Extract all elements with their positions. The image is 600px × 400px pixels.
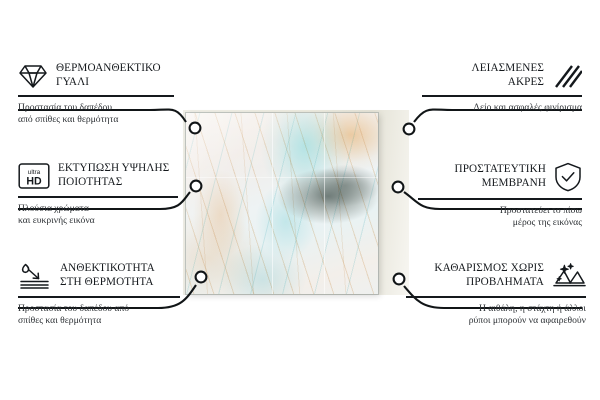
feature-description: Πλούσια χρώματα και ευκρινής εικόνα <box>18 203 178 228</box>
shield-check-icon <box>554 162 582 192</box>
feature-description: Η αιθάλη, η στάχτη ή άλλοι ρύποι μπορούν… <box>406 303 586 328</box>
feature-header: ultra HD ΕΚΤΥΠΩΣΗ ΥΨΗΛΗΣ ΠΟΙΟΤΗΤΑΣ <box>18 162 178 190</box>
feature-description: Προστασία του δαπέδου από σπίθες και θερ… <box>18 102 174 127</box>
glass-gloss <box>186 113 378 294</box>
feature-description: Προστασία του δαπέδου από σπίθες και θερ… <box>18 303 180 328</box>
feature-protective-membrane: ΠΡΟΣΤΑΤΕΥΤΙΚΗ ΜΕΜΒΡΑΝΗ Προστατεύει το πί… <box>418 162 582 230</box>
feature-title: ΕΚΤΥΠΩΣΗ ΥΨΗΛΗΣ ΠΟΙΟΤΗΤΑΣ <box>58 162 169 189</box>
infographic-canvas: ΘΕΡΜΟΑΝΘΕΚΤΙΚΟ ΓΥΑΛΙ Προστασία του δαπέδ… <box>0 0 600 400</box>
feature-heat-durability: ΑΝΘΕΚΤΙΚΟΤΗΤΑ ΣΤΗ ΘΕΡΜΟΤΗΤΑ Προστασία το… <box>18 262 180 328</box>
wipe-sparkle-icon <box>552 262 586 290</box>
feature-high-quality-print: ultra HD ΕΚΤΥΠΩΣΗ ΥΨΗΛΗΣ ΠΟΙΟΤΗΤΑΣ Πλούσ… <box>18 162 178 228</box>
polished-edge-icon <box>552 63 582 89</box>
ultra-hd-icon: ultra HD <box>18 162 50 190</box>
feature-title: ΘΕΡΜΟΑΝΘΕΚΤΙΚΟ ΓΥΑΛΙ <box>56 62 161 89</box>
divider-rule <box>406 296 586 298</box>
divider-rule <box>18 95 174 97</box>
feature-header: ΚΑΘΑΡΙΣΜΟΣ ΧΩΡΙΣ ΠΡΟΒΛΗΜΑΤΑ <box>406 262 586 290</box>
window-reflection-vertical <box>272 113 273 294</box>
feature-header: ΠΡΟΣΤΑΤΕΥΤΙΚΗ ΜΕΜΒΡΑΝΗ <box>418 162 582 192</box>
product-scene <box>183 110 409 295</box>
feature-header: ΘΕΡΜΟΑΝΘΕΚΤΙΚΟ ΓΥΑΛΙ <box>18 62 174 89</box>
glass-panel <box>186 113 378 294</box>
feature-polished-edges: ΛΕΙΑΣΜΕΝΕΣ ΑΚΡΕΣ Λείο και ασφαλές φινίρι… <box>422 62 582 114</box>
feature-heat-resistant-glass: ΘΕΡΜΟΑΝΘΕΚΤΙΚΟ ΓΥΑΛΙ Προστασία του δαπέδ… <box>18 62 174 127</box>
svg-text:HD: HD <box>26 175 42 187</box>
feature-header: ΛΕΙΑΣΜΕΝΕΣ ΑΚΡΕΣ <box>422 62 582 89</box>
window-reflection-vertical-2 <box>324 113 325 294</box>
divider-rule <box>422 95 582 97</box>
diamond-icon <box>18 63 48 89</box>
divider-rule <box>418 198 582 200</box>
flame-deflect-icon <box>18 262 52 290</box>
feature-description: Προστατεύει το πίσω μέρος της εικόνας <box>418 205 582 230</box>
feature-easy-cleaning: ΚΑΘΑΡΙΣΜΟΣ ΧΩΡΙΣ ΠΡΟΒΛΗΜΑΤΑ Η αιθάλη, η … <box>406 262 586 328</box>
feature-header: ΑΝΘΕΚΤΙΚΟΤΗΤΑ ΣΤΗ ΘΕΡΜΟΤΗΤΑ <box>18 262 180 290</box>
feature-title: ΠΡΟΣΤΑΤΕΥΤΙΚΗ ΜΕΜΒΡΑΝΗ <box>455 163 546 190</box>
feature-description: Λείο και ασφαλές φινίρισμα <box>422 102 582 114</box>
divider-rule <box>18 196 178 198</box>
feature-title: ΑΝΘΕΚΤΙΚΟΤΗΤΑ ΣΤΗ ΘΕΡΜΟΤΗΤΑ <box>60 262 155 289</box>
window-reflection-horizontal <box>186 177 378 178</box>
feature-title: ΚΑΘΑΡΙΣΜΟΣ ΧΩΡΙΣ ΠΡΟΒΛΗΜΑΤΑ <box>434 262 544 289</box>
feature-title: ΛΕΙΑΣΜΕΝΕΣ ΑΚΡΕΣ <box>472 62 544 89</box>
divider-rule <box>18 296 180 298</box>
